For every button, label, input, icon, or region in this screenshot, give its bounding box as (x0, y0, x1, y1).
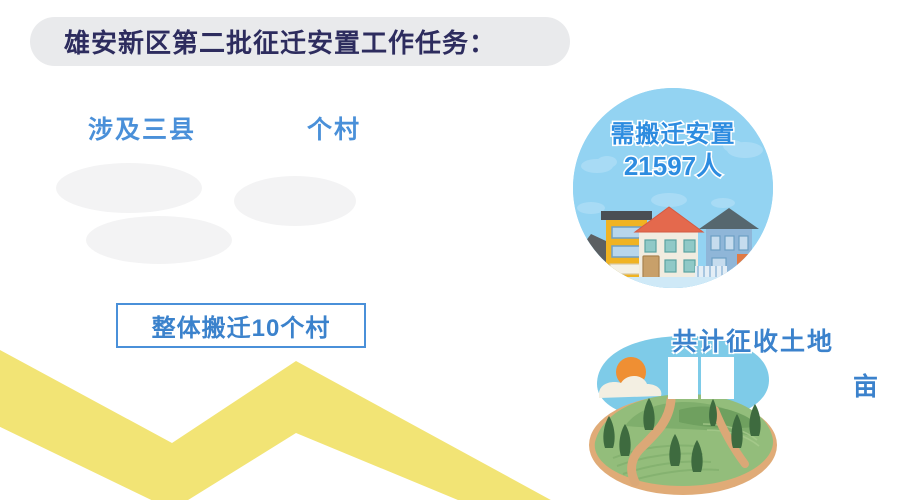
villages-label: 个村 (307, 110, 361, 146)
counties-label: 涉及三县 (88, 110, 196, 146)
gray-ellipse-placeholder (86, 216, 232, 264)
resettlement-badge: 需搬迁安置 21597人 (573, 88, 773, 288)
land-value-placeholder (701, 357, 734, 399)
page-title-pill: 雄安新区第二批征迁安置工作任务： (30, 17, 570, 66)
land-value-placeholder (668, 357, 698, 399)
yellow-zigzag-band (0, 330, 620, 500)
page-title: 雄安新区第二批征迁安置工作任务： (64, 23, 496, 60)
gray-ellipse-placeholder (234, 176, 356, 226)
infographic-canvas: 雄安新区第二批征迁安置工作任务： 涉及三县 个村 整体搬迁10个村 (0, 0, 900, 500)
gray-ellipse-placeholder (56, 163, 202, 213)
land-acquisition-label: 共计征收土地 (672, 322, 834, 358)
relocation-callout-box: 整体搬迁10个村 (116, 303, 366, 348)
relocation-callout-label: 整体搬迁10个村 (152, 308, 331, 343)
houses-illustration (573, 88, 773, 288)
land-unit-label: 亩 (820, 367, 880, 403)
